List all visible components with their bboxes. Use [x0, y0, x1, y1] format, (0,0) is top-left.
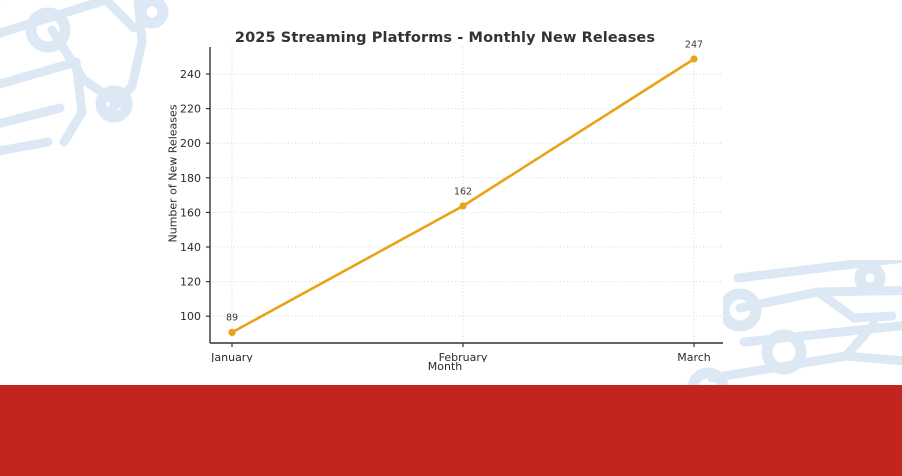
y-axis-label: Number of New Releases — [167, 94, 180, 254]
y-tick-label: 160 — [180, 206, 201, 219]
y-tick-label: 180 — [180, 172, 201, 185]
y-tick-label: 220 — [180, 103, 201, 116]
data-point-marker[interactable] — [690, 55, 697, 62]
y-tick-label: 200 — [180, 137, 201, 150]
bottom-accent-banner — [0, 385, 902, 476]
line-chart-plot: 240 220 200 180 160 140 120 100 January … — [155, 22, 735, 362]
data-point-marker[interactable] — [228, 329, 235, 336]
data-point-value-label: 162 — [454, 187, 472, 198]
y-tick-label: 140 — [180, 241, 201, 254]
x-axis-label: Month — [155, 360, 735, 373]
data-point-value-label: 247 — [685, 40, 703, 51]
slide-canvas: 2025 Streaming Platforms - Monthly New R… — [0, 0, 902, 476]
y-tick-label: 100 — [180, 310, 201, 323]
y-tick-labels: 240 220 200 180 160 140 120 100 — [180, 68, 201, 323]
y-tick-label: 240 — [180, 68, 201, 81]
chart-figure: 2025 Streaming Platforms - Monthly New R… — [155, 22, 735, 382]
data-point-marker[interactable] — [459, 202, 466, 209]
data-point-value-label: 89 — [226, 313, 238, 324]
y-tick-label: 120 — [180, 276, 201, 289]
